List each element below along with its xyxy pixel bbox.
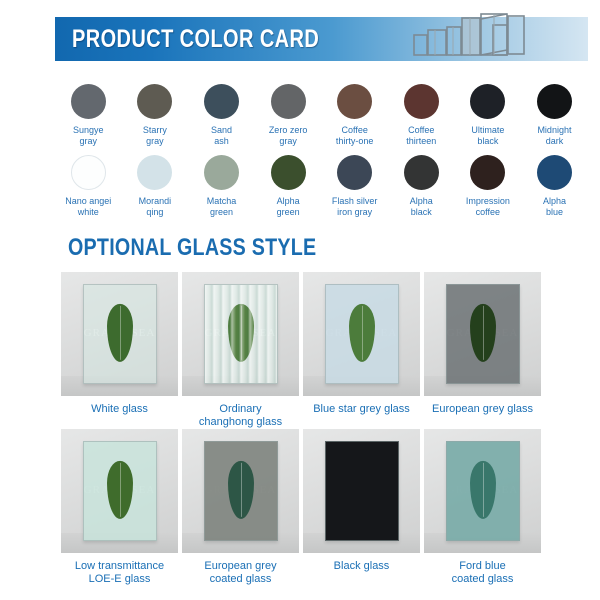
color-swatch-dot: [470, 84, 505, 119]
color-swatch-label: Zero zero gray: [269, 125, 308, 146]
color-swatch-item[interactable]: Sungye gray: [55, 84, 122, 146]
glass-style-item[interactable]: GRAND SEAEuropean grey glass: [424, 272, 541, 429]
color-swatch-label: Impression coffee: [466, 196, 510, 217]
glass-pane: [83, 284, 157, 384]
color-swatch-dot: [137, 84, 172, 119]
glass-style-item[interactable]: GRAND SEALow transmittance LOE-E glass: [61, 429, 178, 586]
glass-style-caption: Ford blue coated glass: [424, 560, 541, 586]
color-swatch-dot: [71, 155, 106, 190]
color-swatch-item[interactable]: Matcha green: [188, 155, 255, 217]
color-swatch-dot: [537, 155, 572, 190]
color-swatch-dot: [404, 84, 439, 119]
glass-style-caption: European grey glass: [424, 403, 541, 416]
color-swatch-item[interactable]: Ultimate black: [455, 84, 522, 146]
color-swatch-dot: [204, 155, 239, 190]
glass-style-caption: European grey coated glass: [182, 560, 299, 586]
color-swatch-item[interactable]: Coffee thirty-one: [321, 84, 388, 146]
glass-pane: [204, 284, 278, 384]
glass-pane: [446, 284, 520, 384]
glass-style-caption: White glass: [61, 403, 178, 416]
glass-style-item[interactable]: GRAND SEAWhite glass: [61, 272, 178, 429]
page-header: PRODUCT COLOR CARD: [0, 0, 600, 78]
color-swatch-dot: [137, 155, 172, 190]
leaf-shape: [349, 304, 375, 362]
glass-style-caption: Ordinary changhong glass: [182, 403, 299, 429]
leaf-shape: [107, 461, 133, 519]
glass-pane: [83, 441, 157, 541]
color-swatch-label: Alpha black: [410, 196, 433, 217]
leaf-shape: [470, 461, 496, 519]
color-swatch-label: Coffee thirteen: [406, 125, 436, 146]
glass-sample-photo: GRAND SEA: [182, 429, 299, 553]
glass-sample-photo: GRAND SEA: [303, 272, 420, 396]
color-swatch-label: Morandi qing: [139, 196, 172, 217]
glass-sample-photo: GRAND SEA: [61, 272, 178, 396]
color-swatch-dot: [337, 155, 372, 190]
glass-pane: [325, 284, 399, 384]
color-swatch-label: Sand ash: [211, 125, 232, 146]
glass-pane: [325, 441, 399, 541]
glass-style-item[interactable]: GRAND SEABlue star grey glass: [303, 272, 420, 429]
color-swatch-item[interactable]: Alpha blue: [521, 155, 588, 217]
color-swatch-dot: [470, 155, 505, 190]
color-swatch-item[interactable]: Alpha green: [255, 155, 322, 217]
color-swatch-item[interactable]: Coffee thirteen: [388, 84, 455, 146]
glass-style-item[interactable]: GRAND SEAOrdinary changhong glass: [182, 272, 299, 429]
glass-style-grid: GRAND SEAWhite glassGRAND SEAOrdinary ch…: [61, 272, 539, 586]
color-swatch-label: Sungye gray: [73, 125, 104, 146]
color-swatch-dot: [404, 155, 439, 190]
color-swatch-item[interactable]: Impression coffee: [455, 155, 522, 217]
glass-style-caption: Blue star grey glass: [303, 403, 420, 416]
section-title-optional-glass: OPTIONAL GLASS STYLE: [68, 234, 316, 262]
color-swatch-label: Coffee thirty-one: [336, 125, 374, 146]
color-swatch-item[interactable]: Starry gray: [122, 84, 189, 146]
glass-sample-photo: GRAND SEA: [182, 272, 299, 396]
color-swatch-label: Matcha green: [207, 196, 237, 217]
glass-sample-photo: GRAND SEA: [424, 272, 541, 396]
color-swatch-item[interactable]: Sand ash: [188, 84, 255, 146]
color-swatch-item[interactable]: Midnight dark: [521, 84, 588, 146]
color-swatch-dot: [537, 84, 572, 119]
color-swatch-item[interactable]: Zero zero gray: [255, 84, 322, 146]
color-swatch-dot: [204, 84, 239, 119]
color-swatch-item[interactable]: Nano angei white: [55, 155, 122, 217]
leaf-shape: [470, 304, 496, 362]
window-door-frames-graphic: [412, 9, 534, 61]
color-swatch-dot: [271, 155, 306, 190]
color-swatch-label: Midnight dark: [537, 125, 571, 146]
color-swatch-dot: [271, 84, 306, 119]
color-swatch-row-2: Nano angei whiteMorandi qingMatcha green…: [55, 155, 588, 217]
color-swatch-dot: [71, 84, 106, 119]
glass-pane: [204, 441, 278, 541]
page-title: PRODUCT COLOR CARD: [72, 25, 319, 54]
glass-style-item[interactable]: GRAND SEABlack glass: [303, 429, 420, 586]
color-swatch-item[interactable]: Flash silver iron gray: [321, 155, 388, 217]
glass-style-item[interactable]: GRAND SEAEuropean grey coated glass: [182, 429, 299, 586]
glass-style-caption: Black glass: [303, 560, 420, 573]
glass-sample-photo: GRAND SEA: [424, 429, 541, 553]
color-swatch-label: Alpha green: [277, 196, 300, 217]
glass-sample-photo: GRAND SEA: [61, 429, 178, 553]
leaf-shape: [228, 461, 254, 519]
color-swatch-label: Nano angei white: [65, 196, 111, 217]
glass-style-item[interactable]: GRAND SEAFord blue coated glass: [424, 429, 541, 586]
color-swatch-item[interactable]: Morandi qing: [122, 155, 189, 217]
color-swatch-label: Ultimate black: [471, 125, 504, 146]
glass-style-caption: Low transmittance LOE-E glass: [61, 560, 178, 586]
ribbed-texture: [205, 285, 277, 383]
color-swatch-item[interactable]: Alpha black: [388, 155, 455, 217]
color-swatch-dot: [337, 84, 372, 119]
color-swatch-label: Starry gray: [143, 125, 167, 146]
leaf-shape: [107, 304, 133, 362]
color-swatch-row-1: Sungye grayStarry graySand ashZero zero …: [55, 84, 588, 146]
color-swatch-label: Alpha blue: [543, 196, 566, 217]
glass-sample-photo: GRAND SEA: [303, 429, 420, 553]
glass-pane: [446, 441, 520, 541]
color-swatch-label: Flash silver iron gray: [332, 196, 378, 217]
